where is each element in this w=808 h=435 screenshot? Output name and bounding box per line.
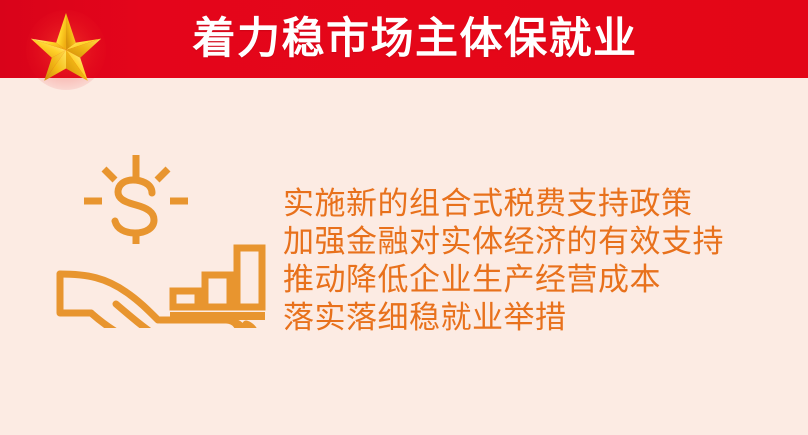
five-pointed-star-icon <box>27 6 105 88</box>
content-area: 实施新的组合式税费支持政策 加强金融对实体经济的有效支持 推动降低企业生产经营成… <box>0 78 808 435</box>
dollar-sign-icon <box>115 169 154 244</box>
hand-holding-money-with-bar-chart-icon <box>48 138 273 328</box>
message-line: 加强金融对实体经济的有效支持 <box>283 223 753 261</box>
open-hand-icon <box>60 274 255 328</box>
message-line: 落实落细稳就业举措 <box>283 299 753 337</box>
header-banner <box>0 0 808 78</box>
message-line: 推动降低企业生产经营成本 <box>283 261 753 299</box>
bar-chart-bars-group <box>173 248 262 307</box>
poster-infographic: 着力稳市场主体保就业 <box>0 0 808 435</box>
message-list: 实施新的组合式税费支持政策 加强金融对实体经济的有效支持 推动降低企业生产经营成… <box>283 185 753 337</box>
message-line: 实施新的组合式税费支持政策 <box>283 185 753 223</box>
